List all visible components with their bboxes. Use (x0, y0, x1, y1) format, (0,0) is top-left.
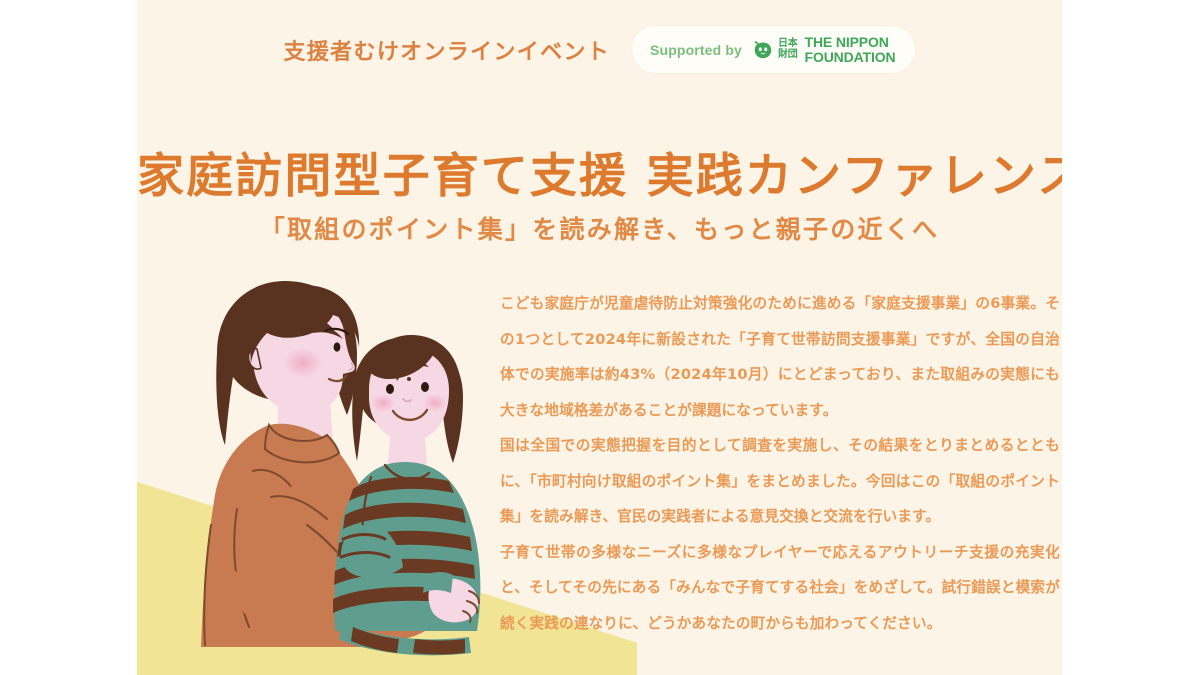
child-eye-left (386, 384, 394, 394)
nippon-foundation-mark-icon (752, 39, 774, 61)
child-mole (407, 377, 411, 381)
description-block: こども家庭庁が児童虐待防止対策強化のために進める「家庭支援事業」の6事業。その1… (500, 286, 1060, 641)
header: 支援者むけオンラインイベント Supported by 日本 財 (137, 26, 1062, 73)
event-kicker: 支援者むけオンラインイベント (284, 34, 610, 66)
supported-by-label: Supported by (650, 42, 742, 58)
description-paragraph-1: こども家庭庁が児童虐待防止対策強化のために進める「家庭支援事業」の6事業。その1… (500, 286, 1060, 428)
logo-jp-line2: 財団 (778, 50, 798, 61)
logo-jp-line1: 日本 (778, 39, 798, 50)
supported-by-badge: Supported by 日本 財団 (632, 26, 915, 73)
parent-child-illustration (157, 275, 577, 675)
child-cuff (423, 572, 453, 593)
child-eye-right (421, 382, 429, 392)
mother-eye (334, 342, 341, 351)
poster-canvas: 支援者むけオンラインイベント Supported by 日本 財 (0, 0, 1200, 675)
description-paragraph-3: 子育て世帯の多様なニーズに多様なプレイヤーで応えるアウトリーチ支援の充実化と、そ… (500, 535, 1060, 642)
logo-english-text: THE NIPPON FOUNDATION (805, 35, 896, 64)
child-cheek-left (371, 394, 395, 412)
page-subtitle: 「取組のポイント集」を読み解き、もっと親子の近くへ (137, 213, 1062, 247)
content-panel: 支援者むけオンラインイベント Supported by 日本 財 (137, 0, 1062, 675)
logo-en-line2: FOUNDATION (805, 50, 896, 65)
page-title: 家庭訪問型子育て支援 実践カンファレンス (137, 149, 1062, 205)
logo-japanese-text: 日本 財団 (778, 39, 798, 60)
logo-en-line1: THE NIPPON (805, 35, 896, 50)
description-paragraph-2: 国は全国での実態把握を目的として調査を実施し、その結果をとりまとめるとともに、「… (500, 428, 1060, 535)
mother-cheek (284, 348, 322, 378)
nippon-foundation-logo: 日本 財団 THE NIPPON FOUNDATION (752, 35, 896, 64)
